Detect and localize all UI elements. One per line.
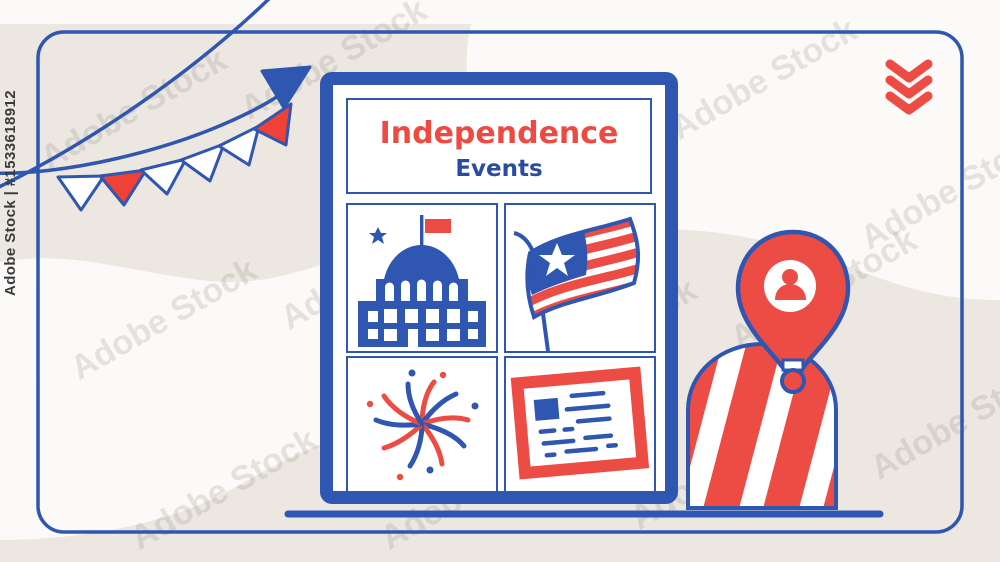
stock-watermark: Adobe Stock | #1533618912: [2, 90, 19, 296]
triple-chevron-down-icon[interactable]: [0, 0, 1000, 562]
illustration-canvas: Adobe Stock Adobe Stock Adobe Stock Adob…: [0, 0, 1000, 562]
chevron-down-icon: [890, 64, 928, 78]
